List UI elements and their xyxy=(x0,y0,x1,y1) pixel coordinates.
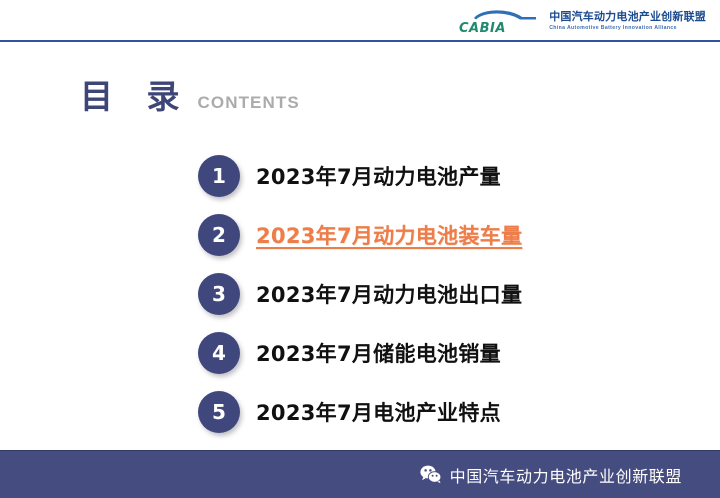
page-title: 目 录 CONTENTS xyxy=(80,80,300,113)
list-item-label[interactable]: 2023年7月动力电池产量 xyxy=(256,161,501,191)
list-item[interactable]: 5 2023年7月电池产业特点 xyxy=(198,382,658,441)
item-number-badge: 4 xyxy=(198,332,240,374)
wechat-icon xyxy=(420,465,442,484)
svg-text:CABIA: CABIA xyxy=(459,21,506,35)
page-footer: 中国汽车动力电池产业创新联盟 xyxy=(0,450,720,498)
list-item-label[interactable]: 2023年7月储能电池销量 xyxy=(256,338,501,368)
brand-name-en: China Automotive Battery Innovation Alli… xyxy=(549,26,706,31)
item-number-badge: 5 xyxy=(198,391,240,433)
header-divider xyxy=(0,40,720,42)
list-item-label[interactable]: 2023年7月动力电池装车量 xyxy=(256,220,522,250)
brand-name: 中国汽车动力电池产业创新联盟 China Automotive Battery … xyxy=(549,11,706,31)
list-item-label[interactable]: 2023年7月电池产业特点 xyxy=(256,397,501,427)
page-title-en: CONTENTS xyxy=(198,94,300,111)
item-number-badge: 2 xyxy=(198,214,240,256)
cabia-logo-icon: CABIA xyxy=(456,7,540,35)
item-number-badge: 1 xyxy=(198,155,240,197)
footer-content: 中国汽车动力电池产业创新联盟 xyxy=(420,463,682,487)
page-title-cn: 目 录 xyxy=(80,80,191,113)
list-item[interactable]: 2 2023年7月动力电池装车量 xyxy=(198,205,658,264)
list-item[interactable]: 4 2023年7月储能电池销量 xyxy=(198,323,658,382)
list-item[interactable]: 1 2023年7月动力电池产量 xyxy=(198,146,658,205)
page-header: CABIA 中国汽车动力电池产业创新联盟 China Automotive Ba… xyxy=(0,0,720,41)
item-number-badge: 3 xyxy=(198,273,240,315)
brand-name-cn: 中国汽车动力电池产业创新联盟 xyxy=(549,12,706,23)
brand-logo: CABIA 中国汽车动力电池产业创新联盟 China Automotive Ba… xyxy=(456,7,706,35)
list-item[interactable]: 3 2023年7月动力电池出口量 xyxy=(198,264,658,323)
list-item-label[interactable]: 2023年7月动力电池出口量 xyxy=(256,279,522,309)
footer-label: 中国汽车动力电池产业创新联盟 xyxy=(450,463,682,487)
contents-list: 1 2023年7月动力电池产量 2 2023年7月动力电池装车量 3 2023年… xyxy=(198,146,658,441)
